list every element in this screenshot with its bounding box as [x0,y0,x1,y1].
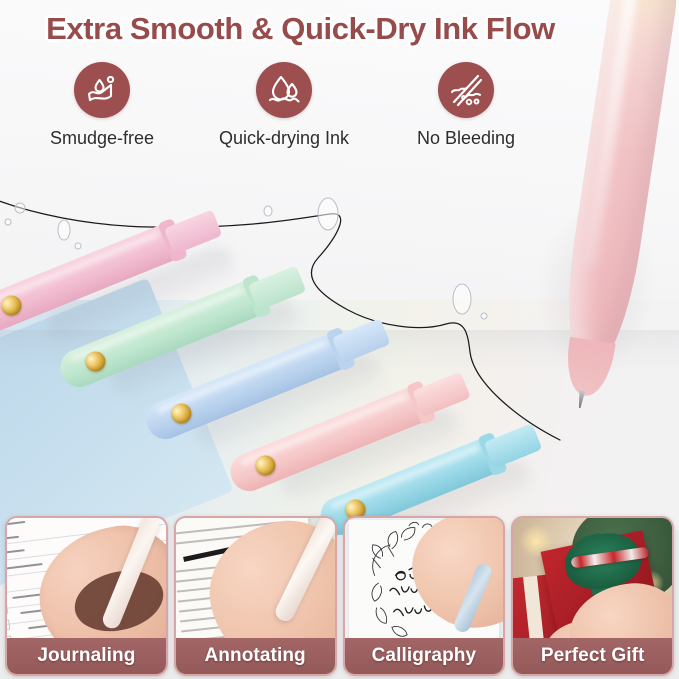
usecase-card-journaling[interactable]: Journaling [5,516,168,676]
usecase-caption: Annotating [176,638,335,674]
usecase-card-perfect-gift[interactable]: Perfect Gift [511,516,674,676]
smudge-free-badge [74,62,130,118]
usecase-caption: Journaling [7,638,166,674]
smudge-free-icon [85,73,119,107]
usecase-caption: Perfect Gift [513,638,672,674]
feature-no-bleeding: No Bleeding [378,62,554,149]
quick-drying-ink-badge [256,62,312,118]
product-feature-graphic: Extra Smooth & Quick-Dry Ink Flow Smudge… [0,0,679,679]
feature-label: No Bleeding [417,128,515,149]
pastel-pen-group [0,260,679,520]
feature-smudge-free: Smudge-free [14,62,190,149]
feature-label: Quick-drying Ink [219,128,349,149]
usecase-card-annotating[interactable]: Annotating [174,516,337,676]
page-title: Extra Smooth & Quick-Dry Ink Flow [0,11,679,47]
quick-drying-ink-icon [267,73,301,107]
feature-label: Smudge-free [50,128,154,149]
usecase-caption: Calligraphy [345,638,504,674]
no-bleeding-badge [438,62,494,118]
usecase-thumbnail-strip: Journaling [0,504,679,679]
feature-list: Smudge-free Quick-drying Ink [14,62,554,149]
usecase-card-calligraphy[interactable]: Calligraphy [343,516,506,676]
feature-quick-drying-ink: Quick-drying Ink [196,62,372,149]
no-bleeding-icon [449,73,483,107]
